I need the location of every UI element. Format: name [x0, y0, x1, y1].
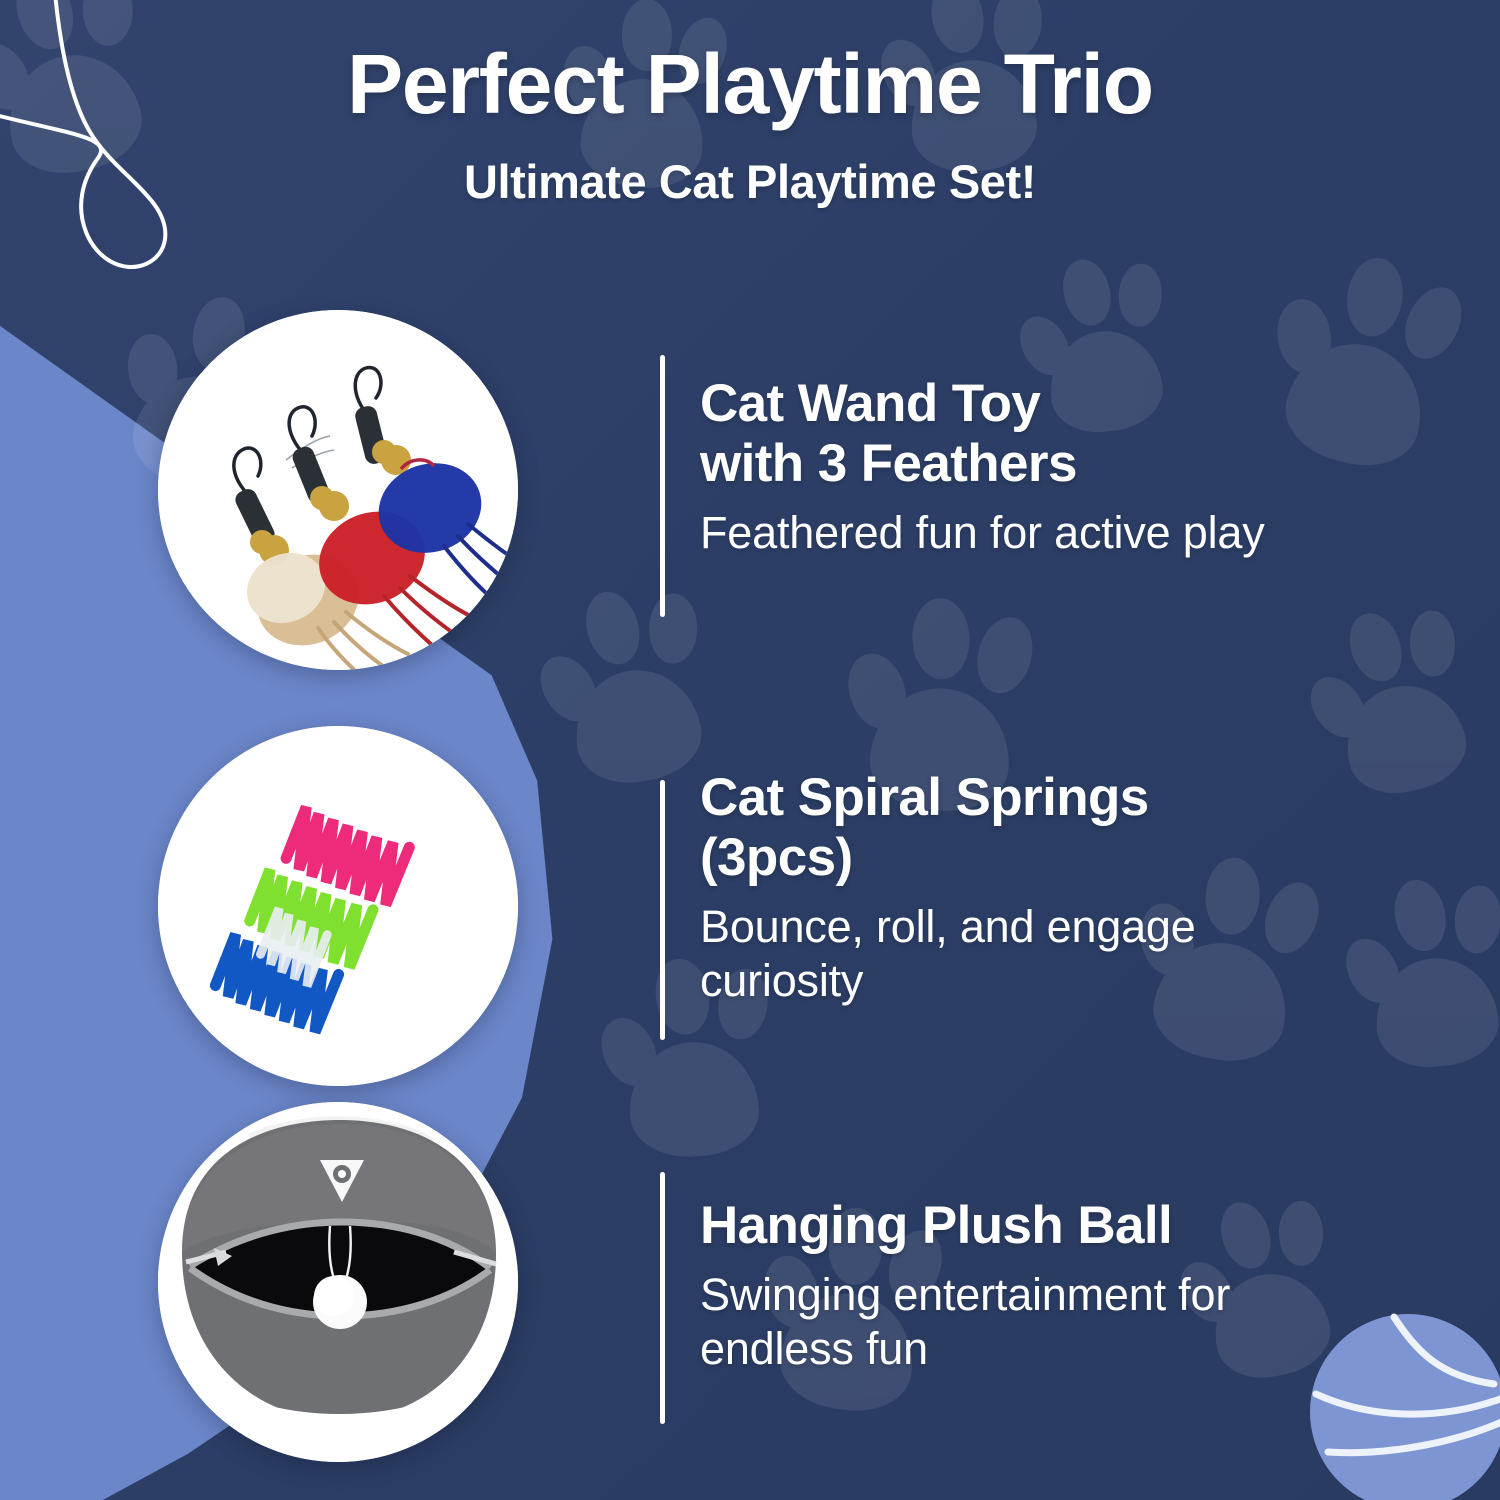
feature-divider: [660, 780, 665, 1040]
feature-title: Cat Spiral Springs (3pcs): [700, 768, 1440, 888]
page-title: Perfect Playtime Trio: [0, 42, 1500, 128]
feature-image-cat-wand-toy: [158, 310, 518, 670]
feature-image-cat-spiral-springs: [158, 726, 518, 1086]
feature-divider: [660, 355, 665, 617]
feature-description: Feathered fun for active play: [700, 506, 1440, 560]
page-subtitle: Ultimate Cat Playtime Set!: [0, 154, 1500, 209]
feature-title: Hanging Plush Ball: [700, 1196, 1440, 1256]
feature-list: Cat Wand Toy with 3 Feathers Feathered f…: [0, 0, 1500, 1500]
feature-copy: Cat Spiral Springs (3pcs) Bounce, roll, …: [700, 768, 1440, 1008]
feature-row: Cat Spiral Springs (3pcs) Bounce, roll, …: [0, 718, 1500, 1098]
feature-description: Swinging entertainment for endless fun: [700, 1268, 1440, 1376]
feature-row: Hanging Plush Ball Swinging entertainmen…: [0, 1096, 1500, 1496]
header: Perfect Playtime Trio Ultimate Cat Playt…: [0, 42, 1500, 209]
product-infographic: Perfect Playtime Trio Ultimate Cat Playt…: [0, 0, 1500, 1500]
feature-title: Cat Wand Toy with 3 Feathers: [700, 374, 1440, 494]
feature-copy: Hanging Plush Ball Swinging entertainmen…: [700, 1196, 1440, 1376]
feature-copy: Cat Wand Toy with 3 Feathers Feathered f…: [700, 374, 1440, 560]
feature-row: Cat Wand Toy with 3 Feathers Feathered f…: [0, 300, 1500, 700]
feature-image-hanging-plush-ball: [158, 1102, 518, 1462]
feature-divider: [660, 1172, 665, 1424]
feature-description: Bounce, roll, and engage curiosity: [700, 900, 1440, 1008]
